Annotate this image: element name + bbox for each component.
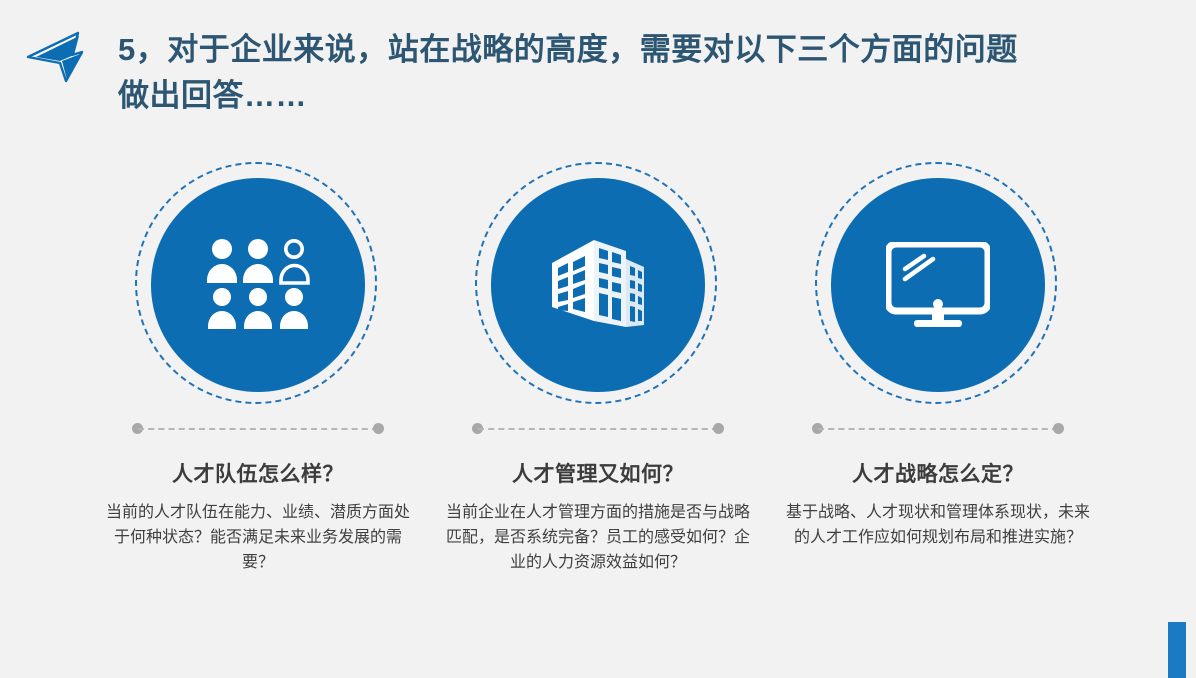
column-body: 当前的人才队伍在能力、业绩、潜质方面处于何种状态？能否满足未来业务发展的需要？ <box>103 500 413 575</box>
corner-accent-bar <box>1168 622 1186 678</box>
column-divider <box>472 422 724 436</box>
left-arrow-icon <box>26 28 98 86</box>
icon-badge-talent-management[interactable] <box>473 160 723 410</box>
desktop-monitor-icon <box>883 230 993 340</box>
divider-line <box>138 428 378 430</box>
title-line-1: 5，对于企业来说，站在战略的高度，需要对以下三个方面的问题 <box>118 27 1138 73</box>
slide-canvas: 5，对于企业来说，站在战略的高度，需要对以下三个方面的问题 做出回答…… <box>0 0 1196 678</box>
feature-column-talent-management: 人才管理又如何？ 当前企业在人才管理方面的措施是否与战略匹配，是否系统完备？员工… <box>428 160 768 620</box>
column-body: 基于战略、人才现状和管理体系现状，未来的人才工作应如何规划布局和推进实施？ <box>783 500 1093 550</box>
icon-badge-talent-team[interactable] <box>133 160 383 410</box>
column-divider <box>132 422 384 436</box>
feature-columns: 人才队伍怎么样？ 当前的人才队伍在能力、业绩、潜质方面处于何种状态？能否满足未来… <box>0 160 1196 620</box>
title-line-2: 做出回答…… <box>118 73 1138 119</box>
divider-line <box>818 428 1058 430</box>
slide-header: 5，对于企业来说，站在战略的高度，需要对以下三个方面的问题 做出回答…… <box>0 0 1196 140</box>
divider-dot-right <box>713 423 724 434</box>
column-heading: 人才管理又如何？ <box>512 458 684 488</box>
divider-dot-right <box>1053 423 1064 434</box>
people-group-icon <box>203 230 313 340</box>
column-divider <box>812 422 1064 436</box>
column-heading: 人才战略怎么定？ <box>852 458 1024 488</box>
column-heading: 人才队伍怎么样？ <box>172 458 344 488</box>
office-building-icon <box>543 230 653 340</box>
feature-column-talent-strategy: 人才战略怎么定？ 基于战略、人才现状和管理体系现状，未来的人才工作应如何规划布局… <box>768 160 1108 620</box>
divider-line <box>478 428 718 430</box>
icon-badge-talent-strategy[interactable] <box>813 160 1063 410</box>
column-body: 当前企业在人才管理方面的措施是否与战略匹配，是否系统完备？员工的感受如何？企业的… <box>443 500 753 575</box>
feature-column-talent-team: 人才队伍怎么样？ 当前的人才队伍在能力、业绩、潜质方面处于何种状态？能否满足未来… <box>88 160 428 620</box>
page-title: 5，对于企业来说，站在战略的高度，需要对以下三个方面的问题 做出回答…… <box>118 27 1138 119</box>
divider-dot-right <box>373 423 384 434</box>
